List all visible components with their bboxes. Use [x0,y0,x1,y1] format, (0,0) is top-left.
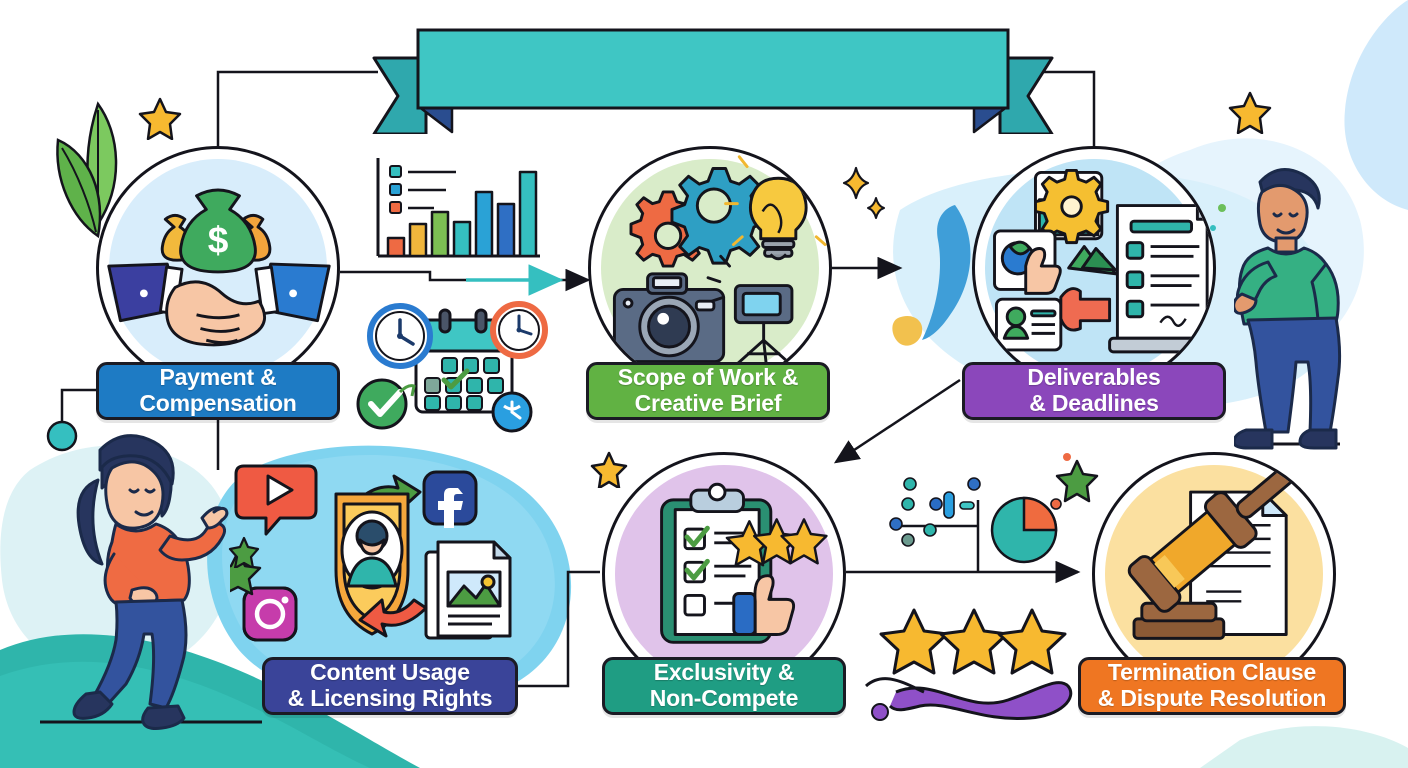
gold-star-decoration [1228,90,1272,134]
node-label-line1: Deliverables [1019,365,1168,391]
dot-scatter-decoration [884,464,1064,574]
green-star-decoration [1054,458,1100,504]
node-circle-deliverables[interactable] [972,146,1216,390]
infographic-canvas: $ Payment &Compensation [0,0,1408,768]
sparkle-decoration [840,166,886,222]
pie-chart-decoration [992,498,1056,562]
node-label-line2: Compensation [131,391,304,417]
node-label-line1: Payment & [131,365,304,391]
handshake-money-bags-icon: $ [99,149,337,387]
node-label-termination[interactable]: Termination Clause& Dispute Resolution [1078,657,1346,715]
node-label-payment[interactable]: Payment &Compensation [96,362,340,420]
node-label-line1: Scope of Work & [610,365,807,391]
node-label-exclusivity[interactable]: Exclusivity &Non-Compete [602,657,846,715]
svg-text:$: $ [208,218,229,260]
node-label-line2: & Deadlines [1019,391,1168,417]
connector-deliverables-exclusivity [836,380,960,462]
node-circle-payment[interactable]: $ [96,146,340,390]
connector-payment-to-banner [218,72,378,150]
node-label-line2: Creative Brief [610,391,807,417]
node-label-deliverables[interactable]: Deliverables& Deadlines [962,362,1226,420]
woman-pointing-illustration [60,420,240,730]
bar-series [388,172,536,256]
man-presenting-illustration [1234,158,1364,450]
node-label-line1: Termination Clause [1090,660,1335,686]
node-label-line2: & Dispute Resolution [1090,686,1335,712]
gold-star-decoration [138,96,182,140]
document-checklist-media-icon [975,149,1213,387]
node-label-scope[interactable]: Scope of Work &Creative Brief [586,362,830,420]
node-circle-scope[interactable] [588,146,832,390]
node-label-line1: Content Usage [280,660,501,686]
node-label-line2: Non-Compete [642,686,807,712]
purple-squiggle-decoration [862,656,1082,726]
shield-social-media-icon [230,448,540,688]
bar-chart-decoration [366,152,546,268]
camera-gears-lightbulb-icon [591,149,829,387]
node-label-content-usage[interactable]: Content Usage& Licensing Rights [262,657,518,715]
node-label-line2: & Licensing Rights [280,686,501,712]
node-label-line1: Exclusivity & [642,660,807,686]
calendar-clocks-decoration [356,288,556,434]
gold-star-decoration [590,450,628,488]
title-ribbon [368,22,1058,134]
